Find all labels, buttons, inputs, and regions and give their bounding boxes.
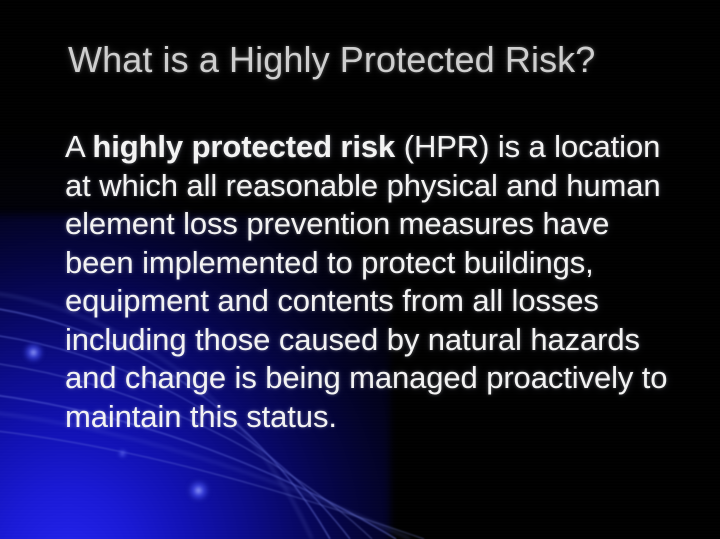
- body-text-lead: A: [65, 129, 92, 164]
- body-text-emphasis: highly protected risk: [92, 129, 395, 164]
- presentation-slide: What is a Highly Protected Risk? A highl…: [0, 0, 720, 539]
- slide-body-text: A highly protected risk (HPR) is a locat…: [65, 128, 677, 436]
- body-text-rest: (HPR) is a location at which all reasona…: [65, 129, 667, 434]
- slide-title: What is a Highly Protected Risk?: [68, 38, 678, 82]
- slide-content: What is a Highly Protected Risk? A highl…: [0, 0, 720, 539]
